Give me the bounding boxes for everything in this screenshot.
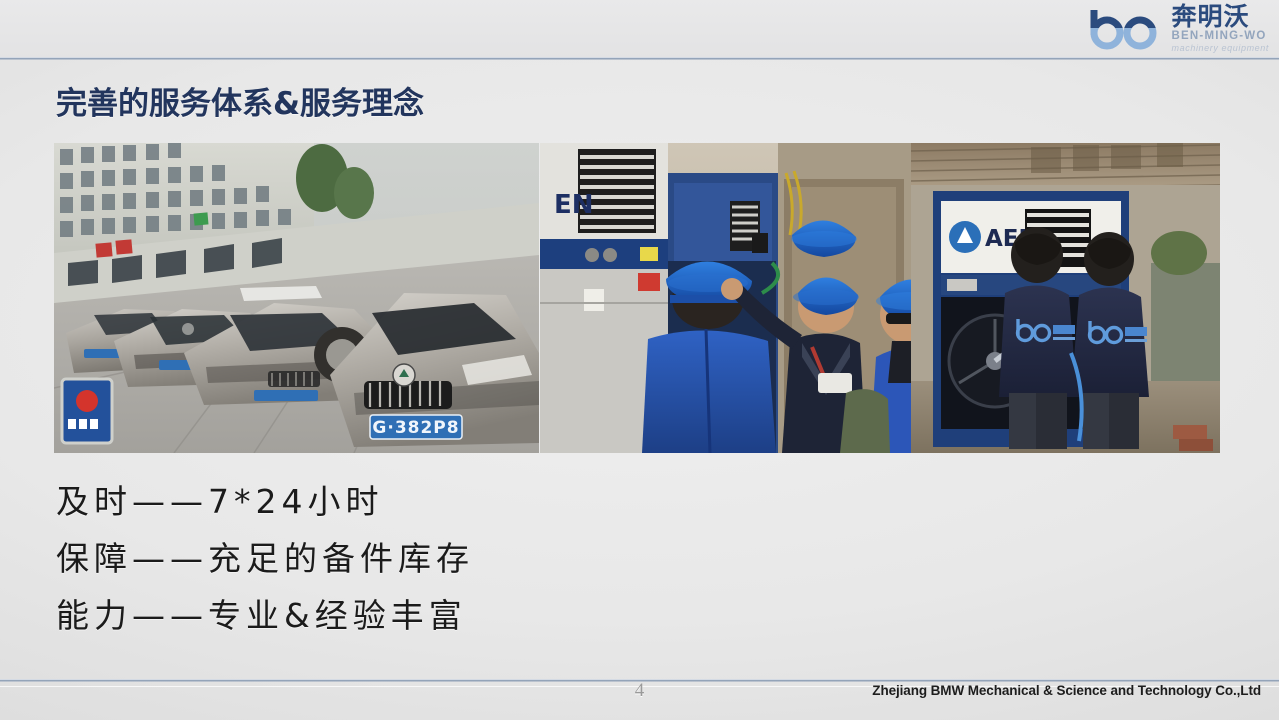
- service-promise-line-1: 及时——7*24小时: [56, 473, 474, 530]
- header-divider: [0, 57, 1279, 60]
- photo-technicians-servicing-blower: EN: [540, 143, 963, 453]
- footer-company-name: Zhejiang BMW Mechanical & Science and Te…: [872, 683, 1261, 698]
- service-promise-line-2: 保障——充足的备件库存: [56, 530, 474, 587]
- page-title: 完善的服务体系&服务理念: [56, 78, 424, 123]
- service-promise-list: 及时——7*24小时 保障——充足的备件库存 能力——专业&经验丰富: [56, 473, 474, 644]
- svg-text:G·382P8: G·382P8: [372, 418, 459, 438]
- logo-tagline: machinery equipment: [1172, 43, 1269, 54]
- photo-fleet-of-service-cars: G·382P8: [54, 143, 539, 453]
- svg-text:EN: EN: [554, 190, 594, 220]
- service-promise-line-3: 能力——专业&经验丰富: [56, 587, 474, 644]
- logo-english-name: BEN-MING-WO: [1172, 30, 1269, 43]
- photo-technicians-at-aerzen-unit: AERZEN: [911, 143, 1220, 453]
- bo-monogram-icon: [1086, 7, 1168, 51]
- logo-chinese-name: 奔明沃: [1172, 4, 1269, 30]
- slide: 奔明沃 BEN-MING-WO machinery equipment 完善的服…: [0, 0, 1279, 720]
- company-logo: 奔明沃 BEN-MING-WO machinery equipment: [1037, 4, 1269, 54]
- logo-wordmark: 奔明沃 BEN-MING-WO machinery equipment: [1172, 6, 1269, 52]
